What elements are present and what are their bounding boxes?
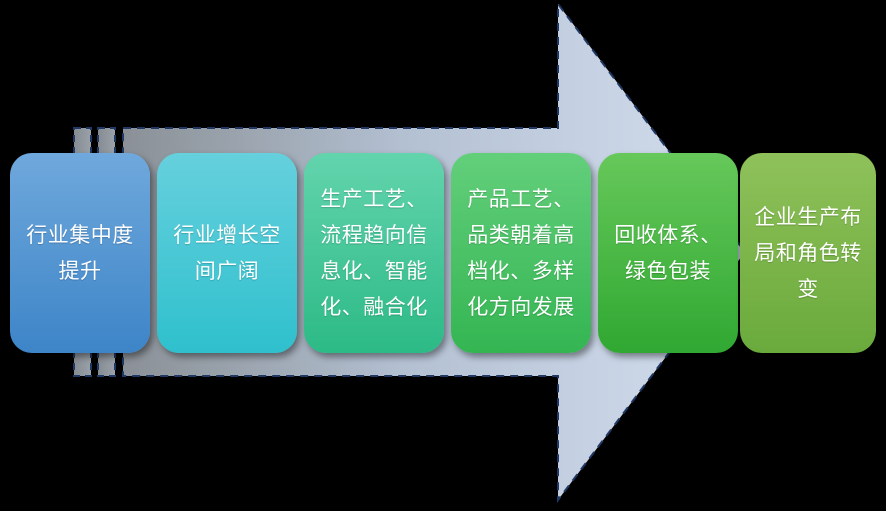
process-box-5[interactable]: 回收体系、 绿色包装 bbox=[598, 153, 738, 353]
process-box-5-label: 回收体系、 绿色包装 bbox=[598, 217, 738, 289]
process-box-4-label: 产品工艺、 品类朝着高 档化、多样 化方向发展 bbox=[451, 181, 591, 325]
process-box-6-label: 企业生产布 局和角色转 变 bbox=[740, 199, 876, 307]
process-box-6[interactable]: 企业生产布 局和角色转 变 bbox=[740, 153, 876, 353]
process-box-3-label: 生产工艺、 流程趋向信 息化、智能 化、融合化 bbox=[304, 181, 444, 325]
process-box-1-label: 行业集中度 提升 bbox=[10, 217, 150, 289]
process-box-1[interactable]: 行业集中度 提升 bbox=[10, 153, 150, 353]
process-box-3[interactable]: 生产工艺、 流程趋向信 息化、智能 化、融合化 bbox=[304, 153, 444, 353]
diagram-canvas: 行业集中度 提升 行业增长空 间广阔 生产工艺、 流程趋向信 息化、智能 化、融… bbox=[0, 0, 886, 511]
process-box-2[interactable]: 行业增长空 间广阔 bbox=[157, 153, 297, 353]
process-box-2-label: 行业增长空 间广阔 bbox=[157, 217, 297, 289]
process-box-4[interactable]: 产品工艺、 品类朝着高 档化、多样 化方向发展 bbox=[451, 153, 591, 353]
